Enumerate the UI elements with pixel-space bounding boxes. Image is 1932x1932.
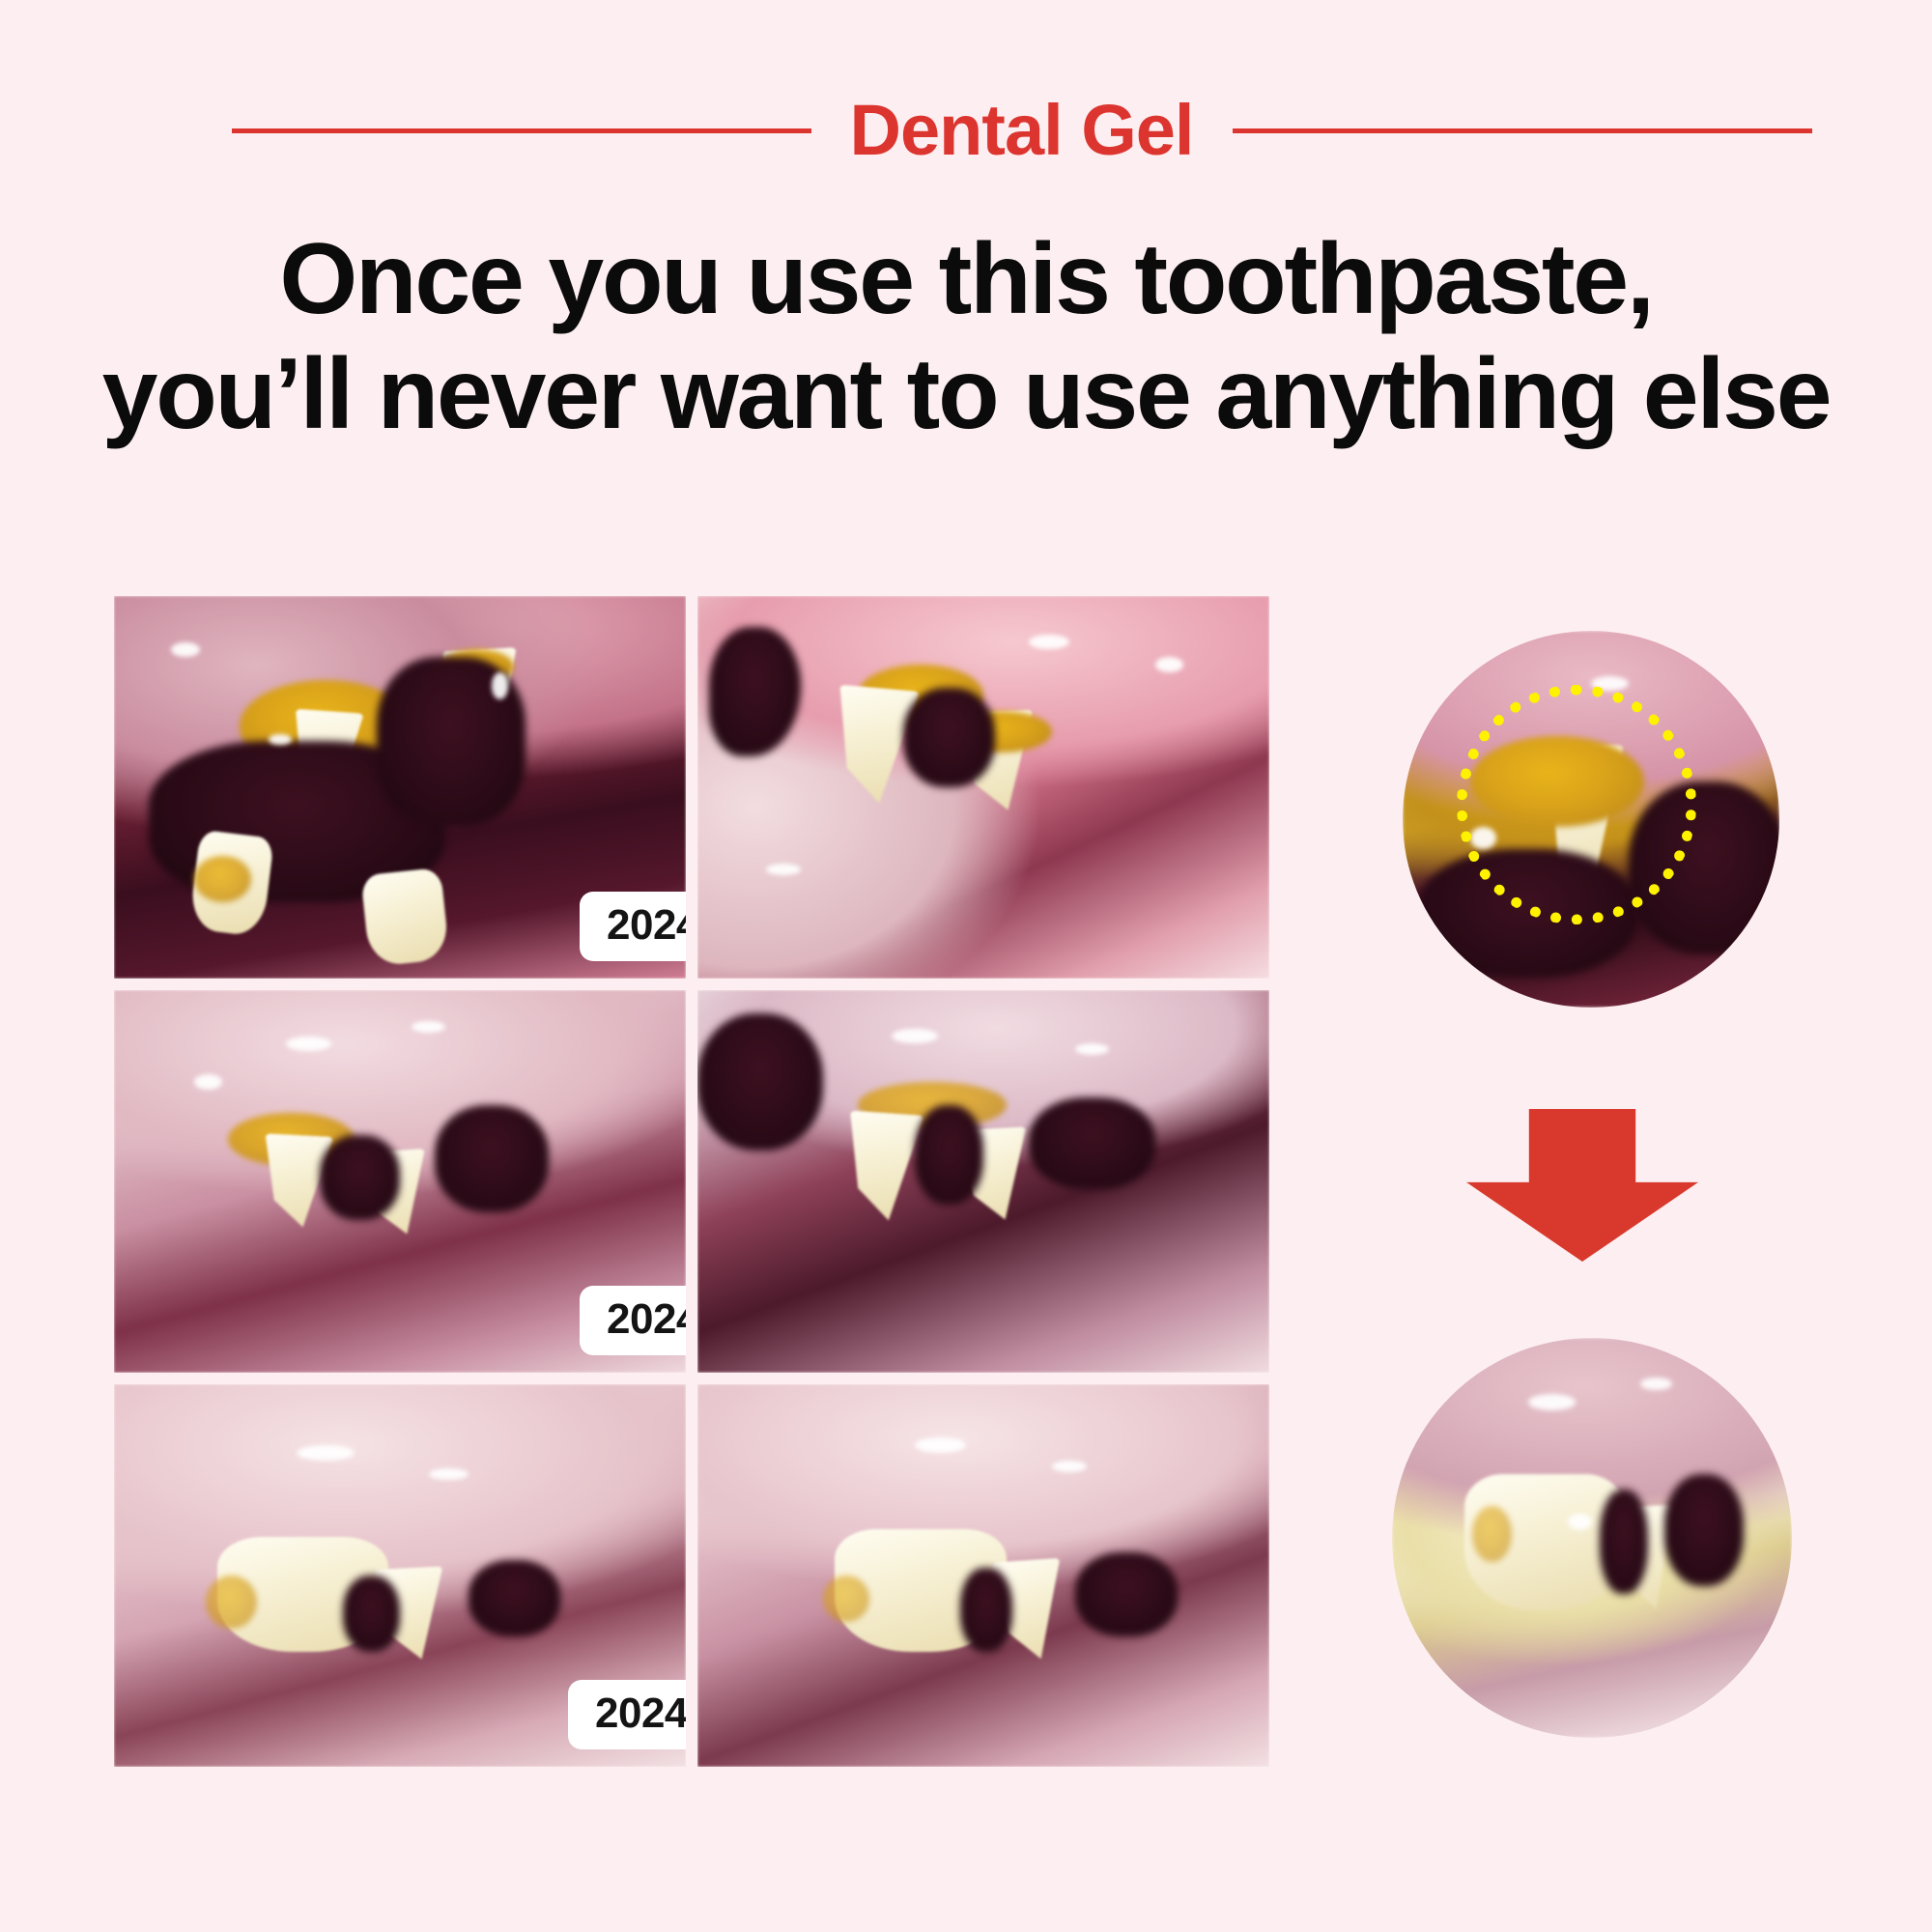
photo-cell-row2-right xyxy=(697,990,1269,1373)
header-rule-right xyxy=(1233,128,1812,133)
photo-cell-row1-right xyxy=(697,596,1269,979)
photo-cell-row1-left: 2024/11/01 xyxy=(114,596,686,979)
transition-arrow xyxy=(1466,1109,1698,1262)
after-zoom-image xyxy=(1392,1338,1792,1738)
date-badge-row3: 2024/11/30 xyxy=(568,1680,686,1749)
header-rule-left xyxy=(232,128,811,133)
progress-photo-grid: 2024/11/01 2024/11/15 xyxy=(114,596,1275,1753)
headline-line-2: you’ll never want to use anything else xyxy=(0,337,1932,452)
tartar-highlight-ring-icon xyxy=(1457,685,1696,924)
date-badge-row2: 2024/11/15 xyxy=(580,1286,686,1355)
photo-cell-row2-left: 2024/11/15 xyxy=(114,990,686,1373)
photo-cell-row3-left: 2024/11/30 xyxy=(114,1384,686,1767)
before-zoom-circle xyxy=(1403,631,1779,1008)
photo-cell-row3-right xyxy=(697,1384,1269,1767)
brand-title: Dental Gel xyxy=(850,95,1194,166)
tooth-photo-2024-11-30-right xyxy=(697,1384,1269,1767)
date-badge-row1: 2024/11/01 xyxy=(580,892,686,961)
headline-line-1: Once you use this toothpaste, xyxy=(0,222,1932,337)
tooth-photo-2024-11-01-right xyxy=(697,596,1269,979)
after-zoom-circle xyxy=(1392,1338,1792,1738)
tooth-photo-2024-11-15-right xyxy=(697,990,1269,1373)
headline: Once you use this toothpaste, you’ll nev… xyxy=(0,222,1932,451)
brand-header: Dental Gel xyxy=(0,87,1932,174)
arrow-down-icon xyxy=(1466,1109,1698,1262)
